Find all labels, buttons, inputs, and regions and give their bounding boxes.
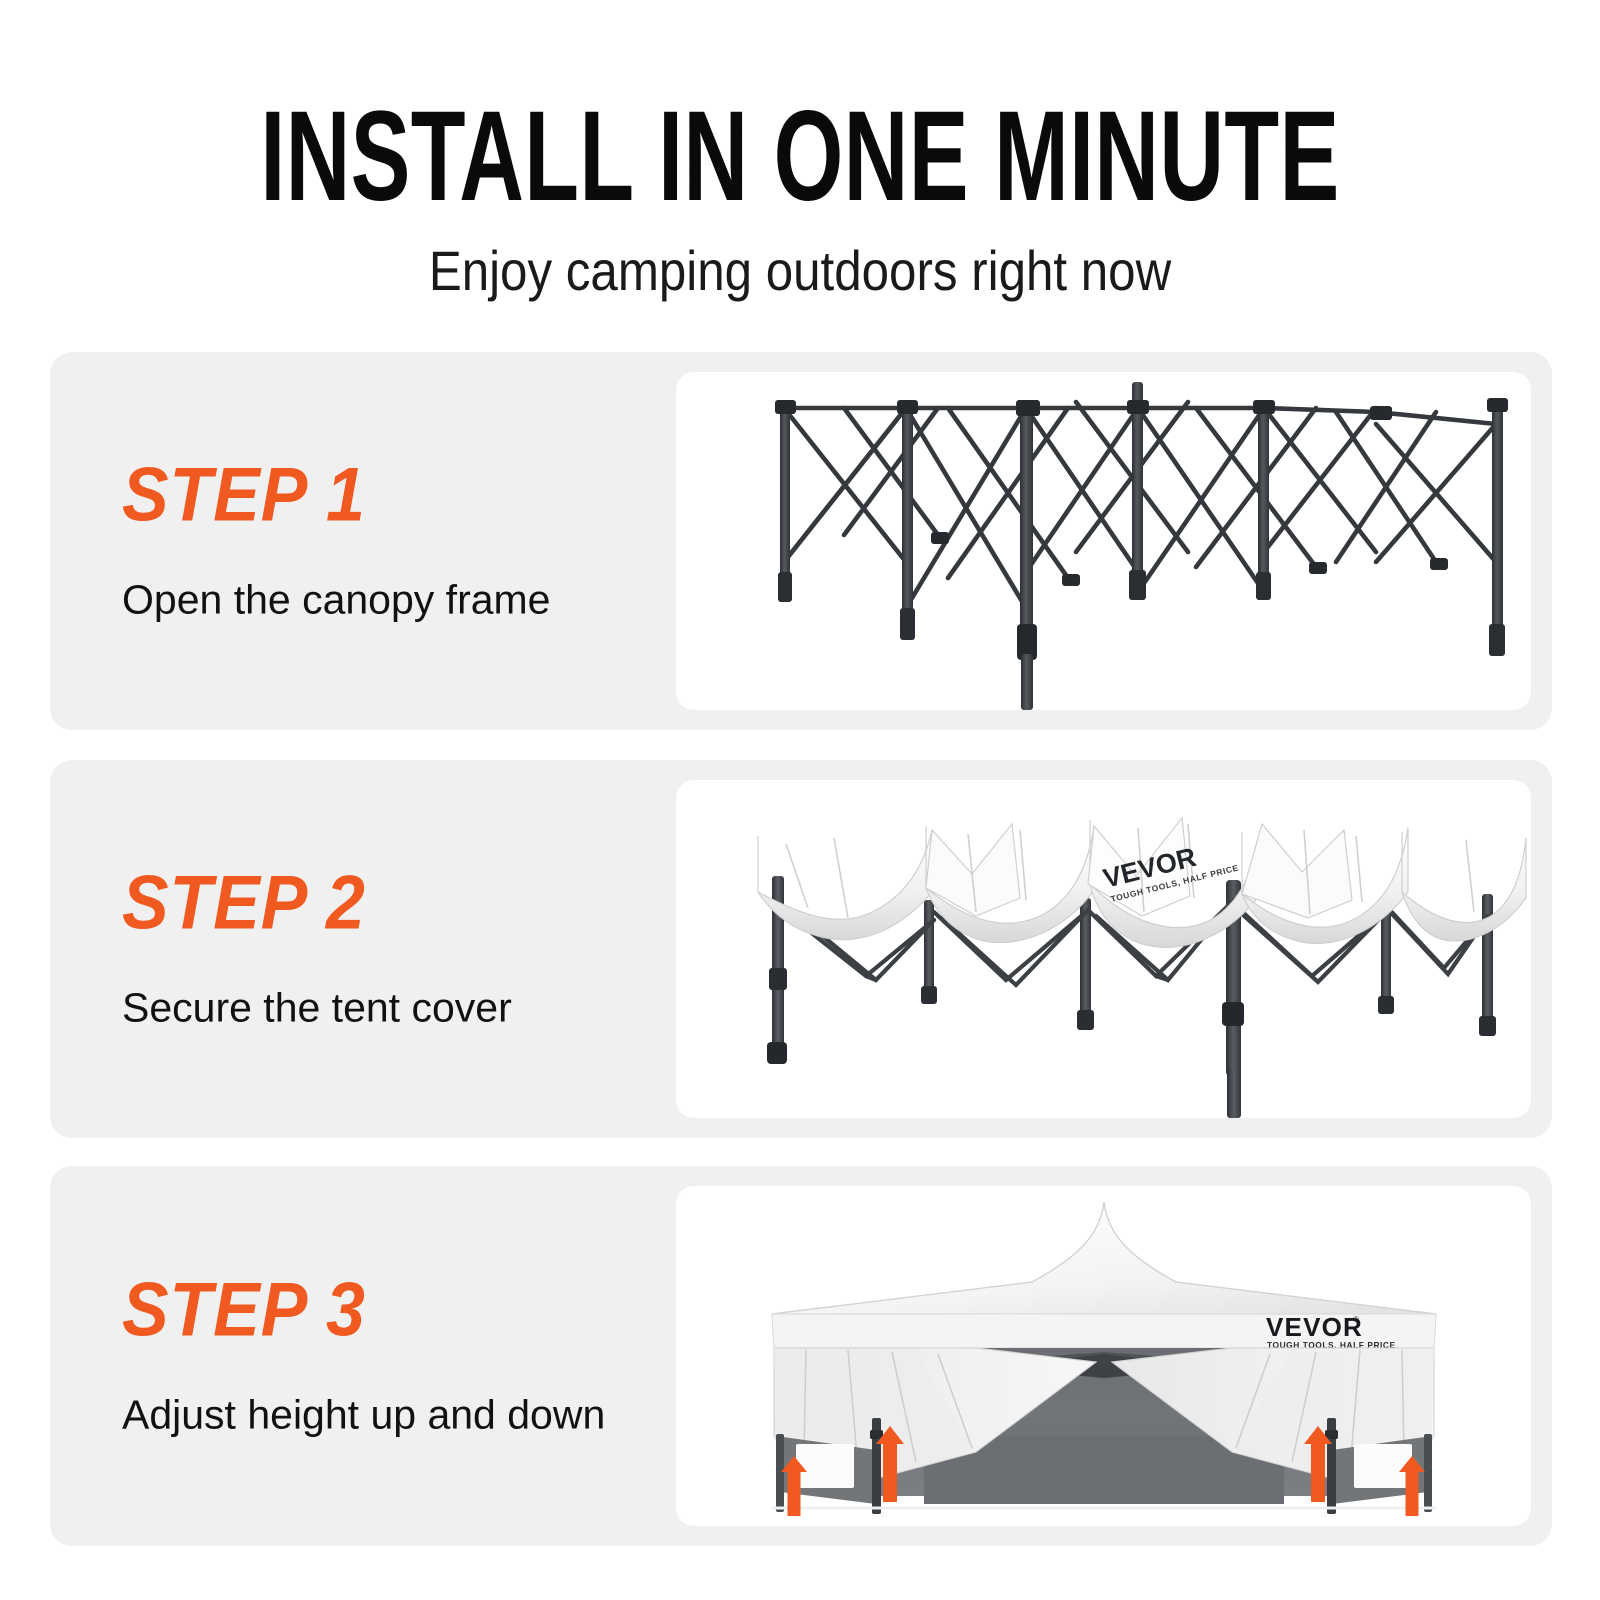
step-1-label: STEP 1 <box>122 457 619 533</box>
step-1-description: Open the canopy frame <box>122 575 662 624</box>
header: INSTALL IN ONE MINUTE Enjoy camping outd… <box>0 96 1600 300</box>
step-3-image-panel: VEVOR ® TOUGH TOOLS, HALF PRICE <box>676 1186 1531 1526</box>
infographic-page: INSTALL IN ONE MINUTE Enjoy camping outd… <box>0 0 1600 1600</box>
assembled-tent-icon: VEVOR ® TOUGH TOOLS, HALF PRICE <box>676 1186 1531 1526</box>
right-window <box>1354 1444 1412 1488</box>
step-3-label: STEP 3 <box>122 1272 619 1348</box>
step-2-label: STEP 2 <box>122 865 619 941</box>
page-subtitle: Enjoy camping outdoors right now <box>96 242 1504 301</box>
step-card-1: STEP 1 Open the canopy frame <box>50 352 1552 730</box>
brand-name: VEVOR <box>1266 1312 1363 1342</box>
canopy-frame-open-icon <box>676 372 1531 710</box>
step-card-3: STEP 3 Adjust height up and down <box>50 1166 1552 1546</box>
step-3-text-block: STEP 3 Adjust height up and down <box>122 1272 662 1439</box>
step-3-description: Adjust height up and down <box>122 1390 662 1439</box>
step-1-image-panel <box>676 372 1531 710</box>
step-2-image-panel: VEVOR TOUGH TOOLS, HALF PRICE <box>676 780 1531 1118</box>
left-window <box>796 1444 854 1488</box>
canopy-with-cover-icon: VEVOR TOUGH TOOLS, HALF PRICE <box>676 780 1531 1118</box>
step-2-text-block: STEP 2 Secure the tent cover <box>122 865 662 1032</box>
page-title: INSTALL IN ONE MINUTE <box>240 96 1360 218</box>
step-1-text-block: STEP 1 Open the canopy frame <box>122 457 662 624</box>
step-2-description: Secure the tent cover <box>122 983 662 1032</box>
step-card-2: STEP 2 Secure the tent cover <box>50 760 1552 1138</box>
registered-mark: ® <box>1353 1315 1359 1324</box>
